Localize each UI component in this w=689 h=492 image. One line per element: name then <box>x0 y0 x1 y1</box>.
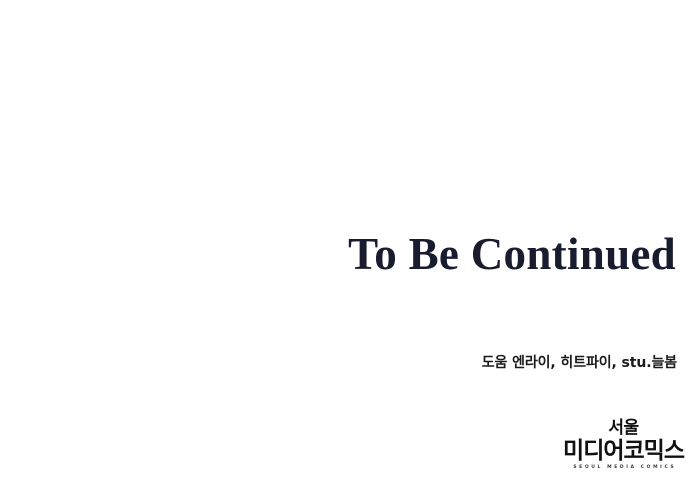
credits-line: 도움 엔라이, 히트파이, stu.늘봄 <box>482 355 677 372</box>
comic-end-card-panel: To Be Continued 도움 엔라이, 히트파이, stu.늘봄 서울 … <box>0 0 689 492</box>
publisher-logo-subtitle: SEOUL MEDIA COMICS <box>563 466 684 471</box>
credits-block: 도움 엔라이, 히트파이, stu.늘봄 <box>0 354 677 372</box>
title-block: To Be Continued <box>0 232 676 277</box>
page-title: To Be Continued <box>348 232 676 277</box>
publisher-logo-line-1: 서울 <box>563 420 684 438</box>
publisher-logo: 서울 미디어코믹스 SEOUL MEDIA COMICS <box>0 420 684 473</box>
blank-artwork-area <box>0 0 689 230</box>
publisher-logo-lockup: 서울 미디어코믹스 SEOUL MEDIA COMICS <box>563 420 684 470</box>
publisher-logo-line-2: 미디어코믹스 <box>563 439 684 463</box>
